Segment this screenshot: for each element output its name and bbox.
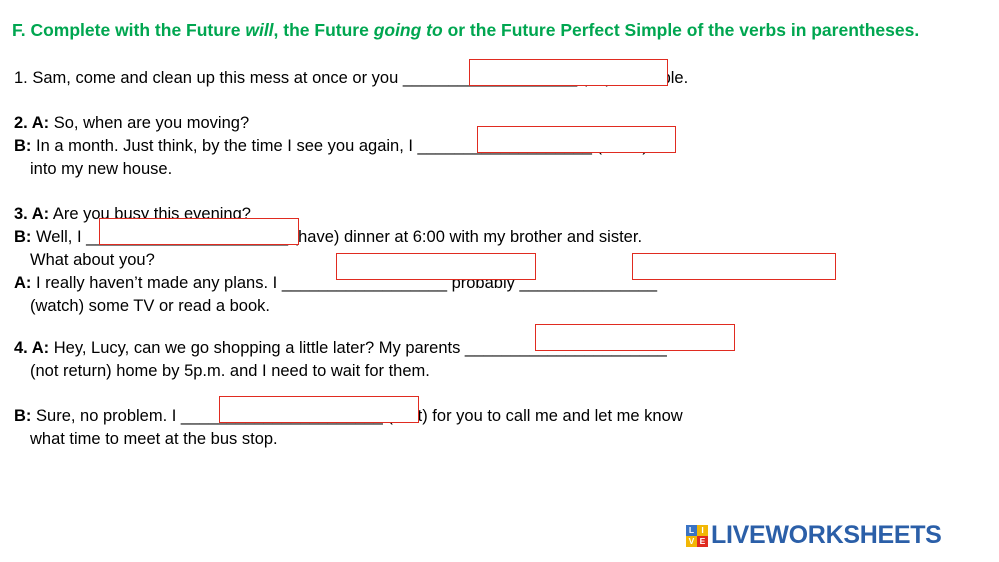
question-3-text-cont2: (watch) some TV or read a book. bbox=[30, 297, 270, 315]
logo-row-bottom: V E bbox=[686, 536, 708, 547]
logo-square-e: E bbox=[697, 536, 708, 547]
title-emphasis-will: will bbox=[245, 20, 273, 40]
question-3-speaker-a: 3. A: bbox=[14, 205, 49, 223]
question-3-speaker-a2: A: bbox=[14, 274, 31, 292]
question-4-line-2: (not return) home by 5p.m. and I need to… bbox=[30, 360, 430, 382]
worksheet-page: F. Complete with the Future will, the Fu… bbox=[0, 0, 999, 562]
question-2-text-cont: into my new house. bbox=[30, 160, 172, 178]
question-2-speaker-b: B: bbox=[14, 137, 31, 155]
question-4-line-4: what time to meet at the bus stop. bbox=[30, 428, 278, 450]
answer-box-6[interactable] bbox=[535, 324, 735, 351]
question-3-line-3: What about you? bbox=[30, 249, 155, 271]
liveworksheets-logo: L I V E LIVEWORKSHEETS bbox=[686, 521, 942, 550]
logo-row-top: L I bbox=[686, 525, 708, 536]
answer-box-2[interactable] bbox=[477, 126, 676, 153]
page-title: F. Complete with the Future will, the Fu… bbox=[12, 20, 919, 41]
logo-squares: L I V E bbox=[686, 525, 708, 547]
logo-square-i: I bbox=[697, 525, 708, 536]
question-4-text-cont2: what time to meet at the bus stop. bbox=[30, 430, 278, 448]
question-4-speaker-b: B: bbox=[14, 407, 31, 425]
answer-box-3[interactable] bbox=[99, 218, 299, 245]
question-2-line-1: 2. A: So, when are you moving? bbox=[14, 112, 249, 134]
answer-box-5[interactable] bbox=[632, 253, 836, 280]
title-mid-1: , the Future bbox=[274, 20, 374, 40]
logo-square-v: V bbox=[686, 536, 697, 547]
title-emphasis-going-to: going to bbox=[374, 20, 443, 40]
logo-wordmark: LIVEWORKSHEETS bbox=[711, 521, 942, 550]
question-3-line-5: (watch) some TV or read a book. bbox=[30, 295, 270, 317]
question-3-text-cont: What about you? bbox=[30, 251, 155, 269]
answer-box-7[interactable] bbox=[219, 396, 419, 423]
answer-box-4[interactable] bbox=[336, 253, 536, 280]
title-prefix: F. Complete with the Future bbox=[12, 20, 245, 40]
answer-box-1[interactable] bbox=[469, 59, 668, 86]
question-2-line-3: into my new house. bbox=[30, 158, 172, 180]
title-mid-2: or the Future Perfect Simple of the verb… bbox=[443, 20, 920, 40]
question-4-speaker-a: 4. A: bbox=[14, 339, 49, 357]
question-2-text-a: So, when are you moving? bbox=[54, 114, 249, 132]
question-2-speaker-a: 2. A: bbox=[14, 114, 49, 132]
logo-square-l: L bbox=[686, 525, 697, 536]
question-4-text-cont: (not return) home by 5p.m. and I need to… bbox=[30, 362, 430, 380]
question-3-speaker-b: B: bbox=[14, 228, 31, 246]
